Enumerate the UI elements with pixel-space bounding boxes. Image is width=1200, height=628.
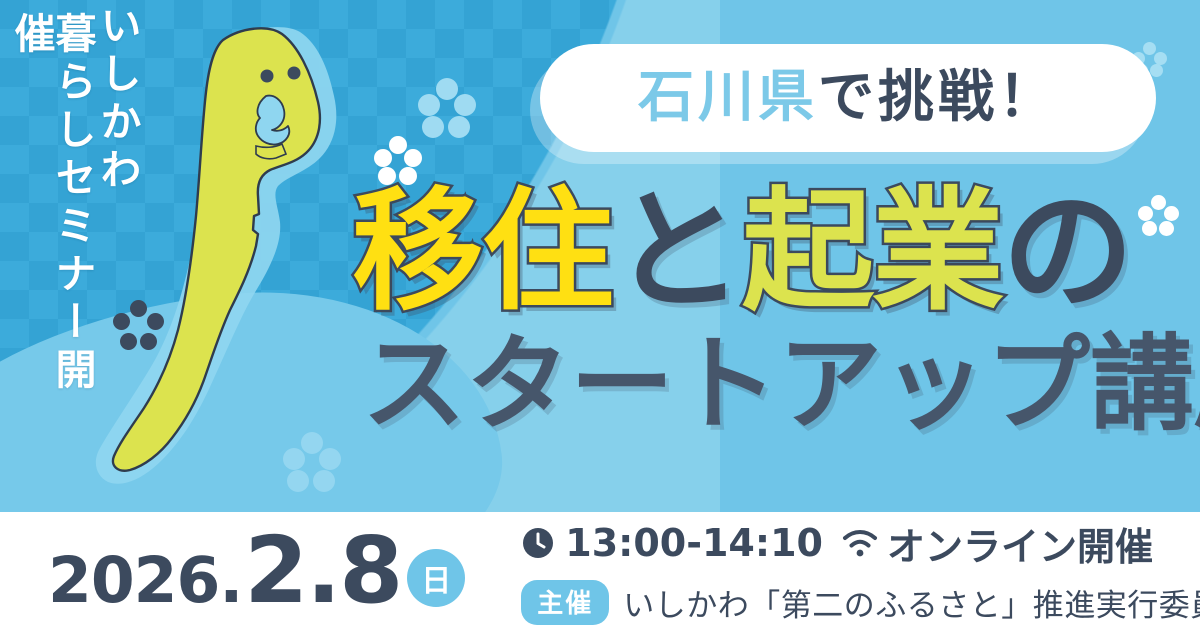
info-bar: 2026. 2.8 日 13:00-14:10 — [0, 512, 1200, 628]
tagline-pill: 石川県 で挑戦！ — [540, 44, 1156, 152]
map-eye-left — [261, 70, 274, 83]
day-of-week-badge: 日 — [407, 549, 465, 607]
wifi-icon — [841, 527, 879, 559]
event-date: 2026. 2.8 日 — [48, 517, 465, 624]
host-name: いしかわ「第二のふるさと」推進実行委員会 — [623, 580, 1200, 625]
host-badge: 主催 — [521, 580, 609, 625]
hero-panel: いしかわ 暮らしセミナー開催 — [0, 0, 1200, 512]
headline-particle-to: と — [612, 175, 742, 329]
event-details: 13:00-14:10 オンライン開催 主催 いしかわ「第二のふるさと」推進実行… — [521, 516, 1200, 625]
headline-word-startup-kouza: スタートアップ講座 — [362, 323, 1200, 445]
flower-lightblue-low-icon — [283, 432, 343, 490]
map-eye-right — [288, 67, 301, 80]
date-month-day: 2.8 — [244, 517, 401, 624]
pill-highlight-text: 石川県 — [638, 70, 818, 126]
headline-word-kigyou: 起業 — [742, 175, 1002, 329]
date-year: 2026. — [48, 544, 242, 617]
host-row: 主催 いしかわ「第二のふるさと」推進実行委員会 — [521, 580, 1200, 625]
pill-rest-text: で挑戦！ — [818, 70, 1058, 126]
headline-line-1: 移住と起業の — [352, 186, 1200, 318]
event-time: 13:00-14:10 — [565, 521, 823, 565]
event-banner: いしかわ 暮らしセミナー開催 — [0, 0, 1200, 628]
flower-navy-left-icon — [113, 300, 165, 352]
event-format: オンライン開催 — [887, 516, 1153, 571]
headline-particle-no: の — [1002, 175, 1132, 329]
flower-lightblue-top-icon — [418, 78, 478, 136]
time-and-format-row: 13:00-14:10 オンライン開催 — [521, 516, 1200, 571]
headline-word-ijuu: 移住 — [352, 175, 612, 329]
clock-icon — [521, 526, 555, 560]
headline-line-2: スタートアップ講座 — [362, 332, 1200, 437]
main-headline: 移住と起業の スタートアップ講座 — [352, 186, 1200, 437]
vertical-copy-left: 暮らしセミナー開催 — [10, 12, 92, 404]
